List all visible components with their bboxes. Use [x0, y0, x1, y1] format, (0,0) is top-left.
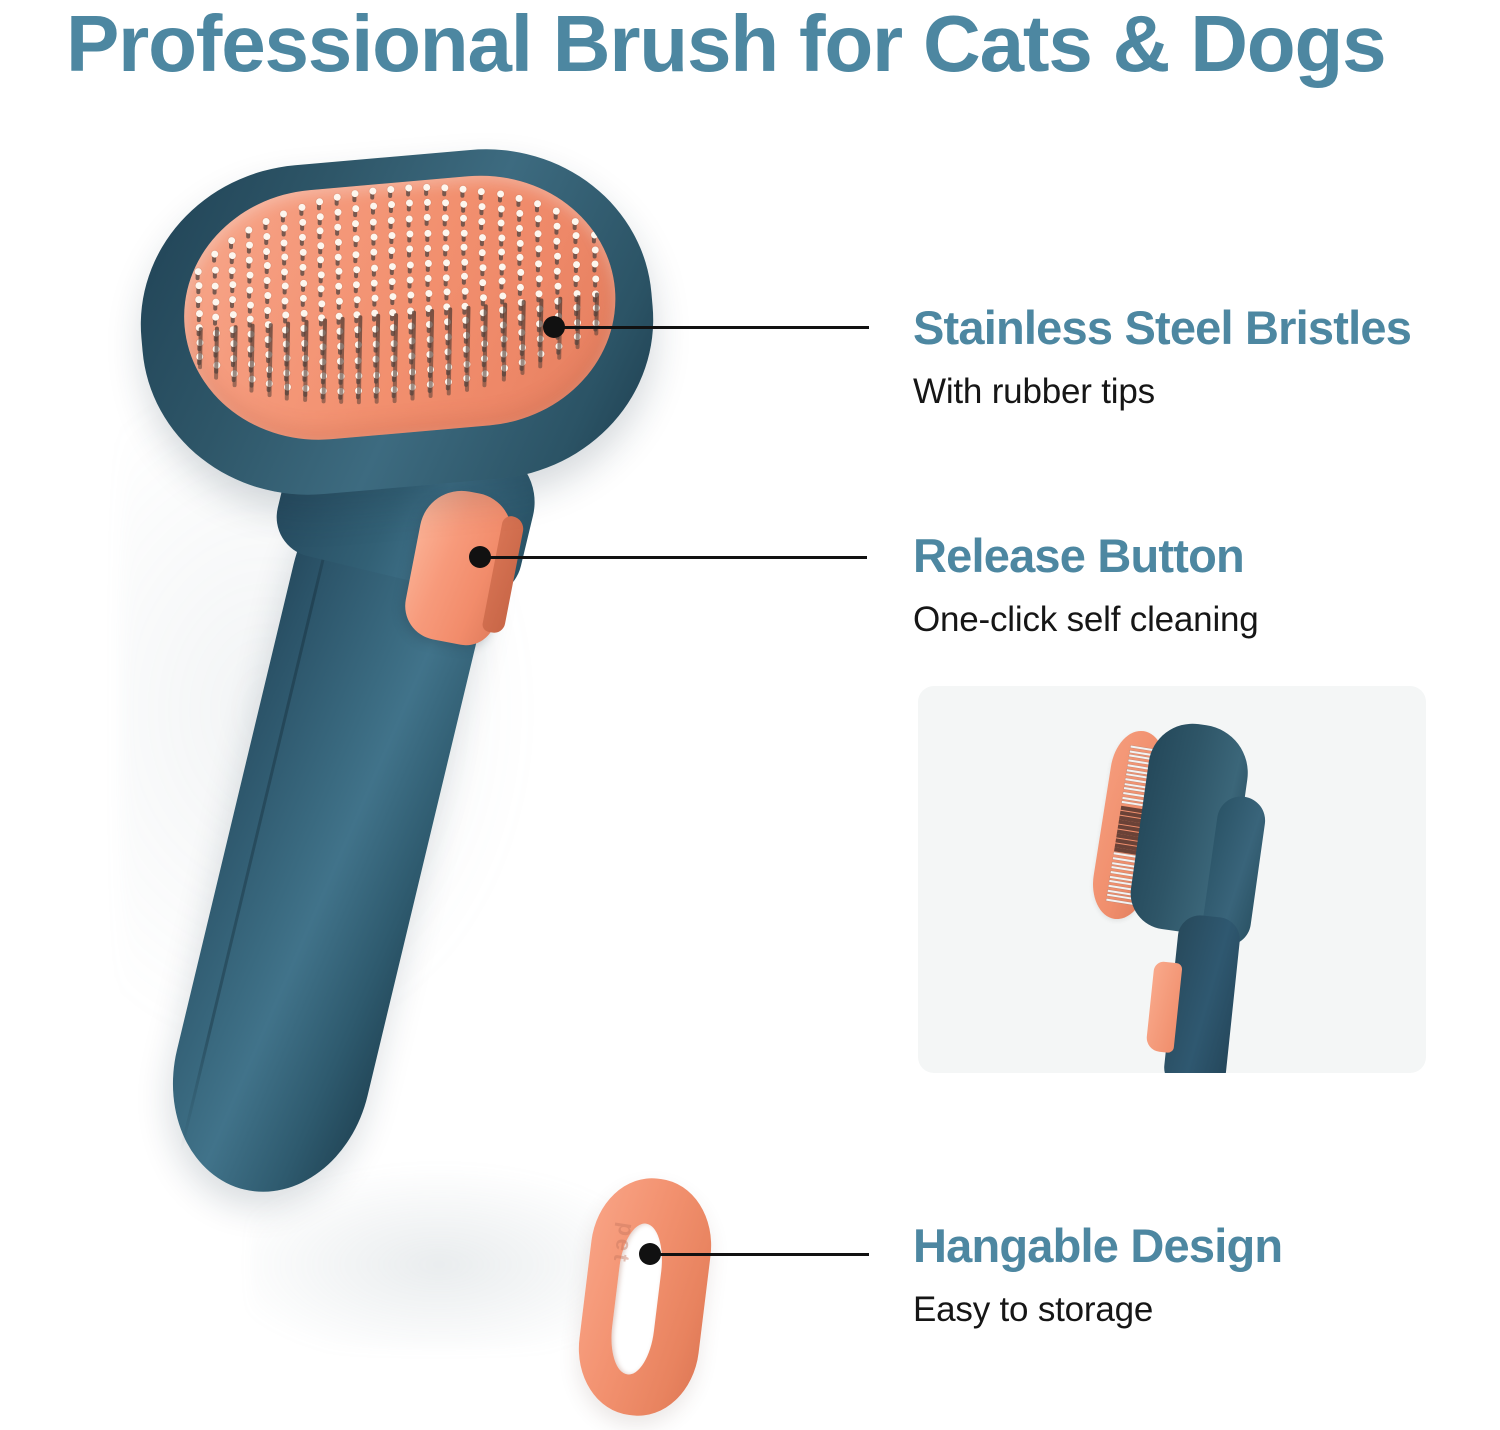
- product-illustration: pet: [0, 0, 900, 1430]
- callout-release-button: Release Button One-click self cleaning: [913, 528, 1493, 642]
- callout-subtext: With rubber tips: [913, 370, 1493, 414]
- leader-stroke-hangable: [650, 1253, 869, 1256]
- callout-heading: Release Button: [913, 528, 1493, 584]
- leader-stroke-release-button: [480, 556, 867, 559]
- leader-line-bristles: [543, 316, 869, 338]
- infographic-canvas: Professional Brush for Cats & Dogs pet: [0, 0, 1500, 1430]
- callout-subtext: One-click self cleaning: [913, 598, 1493, 642]
- leader-line-release-button: [469, 546, 867, 568]
- bristle-pad: [174, 164, 626, 451]
- callout-heading: Stainless Steel Bristles: [913, 300, 1493, 356]
- callout-stainless-steel-bristles: Stainless Steel Bristles With rubber tip…: [913, 300, 1493, 414]
- leader-stroke-bristles: [554, 326, 869, 329]
- callout-heading: Hangable Design: [913, 1218, 1493, 1274]
- stainless-steel-bristles: [174, 164, 626, 451]
- leader-line-hangable: [639, 1243, 869, 1265]
- callout-hangable-design: Hangable Design Easy to storage: [913, 1218, 1493, 1332]
- inset-side-view-panel: [918, 686, 1426, 1073]
- side-view-brush: [918, 686, 1426, 1073]
- callout-subtext: Easy to storage: [913, 1288, 1493, 1332]
